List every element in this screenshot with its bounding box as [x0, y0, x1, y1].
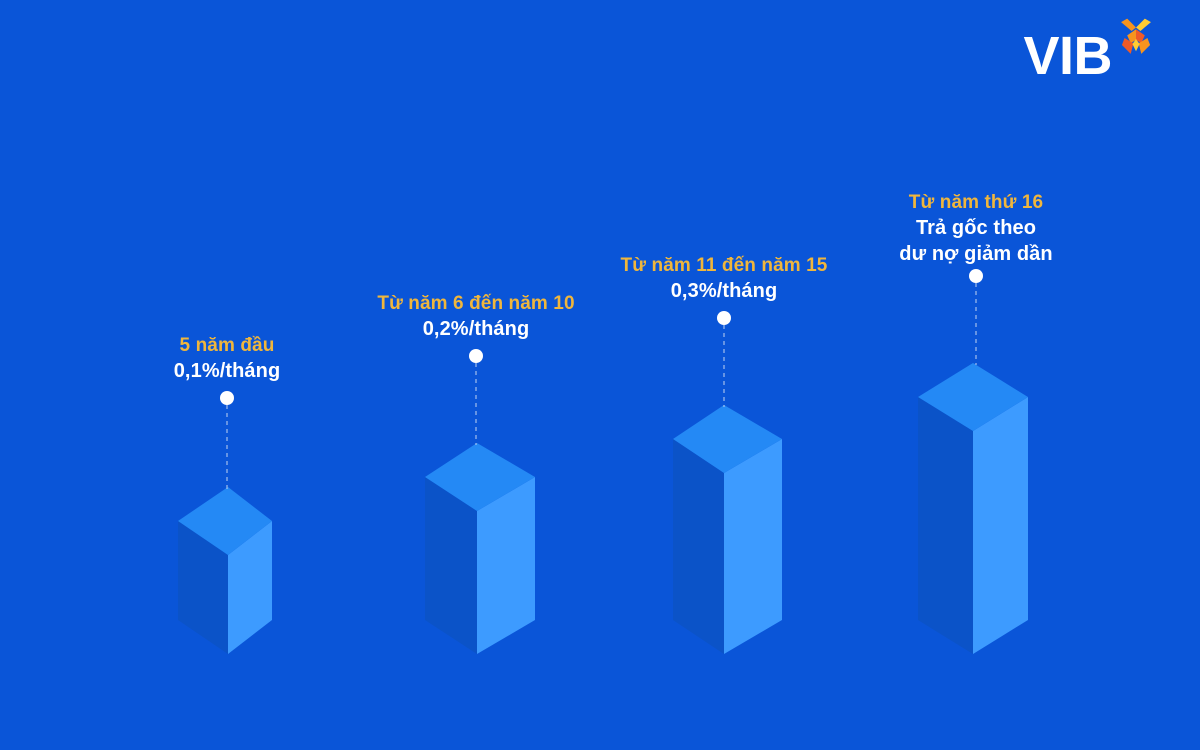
bar-label-2: Từ năm 6 đến năm 100,2%/tháng	[377, 291, 574, 342]
connector-dot-2	[469, 349, 483, 363]
bar-label-title-2: Từ năm 6 đến năm 10	[377, 291, 574, 316]
connector-dot-4	[969, 269, 983, 283]
infographic-canvas: VIB 5 năm đầu0,1%/thángTừ năm 6 đến năm …	[0, 0, 1200, 750]
bar-label-value-1: 0,1%/tháng	[174, 358, 281, 384]
connector-dot-3	[717, 311, 731, 325]
bar-label-1: 5 năm đầu0,1%/tháng	[174, 333, 281, 384]
bars-group	[178, 363, 1028, 654]
bar-chart: 5 năm đầu0,1%/thángTừ năm 6 đến năm 100,…	[0, 0, 1200, 750]
bar-label-value-line2-4: dư nợ giảm dần	[899, 241, 1052, 267]
bar-label-4: Từ năm thứ 16Trả gốc theodư nợ giảm dần	[899, 190, 1052, 268]
bar-label-title-3: Từ năm 11 đến năm 15	[621, 253, 828, 278]
bar-2	[425, 443, 535, 654]
bar-4-left-face	[918, 397, 973, 654]
bar-label-title-1: 5 năm đầu	[174, 333, 281, 358]
bar-1	[178, 487, 272, 654]
bar-3-right-face	[724, 439, 782, 654]
bar-label-value-4: Trả gốc theo	[899, 215, 1052, 241]
bar-3	[673, 405, 782, 654]
bar-3-left-face	[673, 439, 724, 654]
bar-label-3: Từ năm 11 đến năm 150,3%/tháng	[621, 253, 828, 304]
bar-4-right-face	[973, 397, 1028, 654]
bar-4	[918, 363, 1028, 654]
connectors-group	[220, 269, 983, 489]
bar-label-value-3: 0,3%/tháng	[621, 278, 828, 304]
connector-dot-1	[220, 391, 234, 405]
bar-label-title-4: Từ năm thứ 16	[899, 190, 1052, 215]
bar-label-value-2: 0,2%/tháng	[377, 316, 574, 342]
